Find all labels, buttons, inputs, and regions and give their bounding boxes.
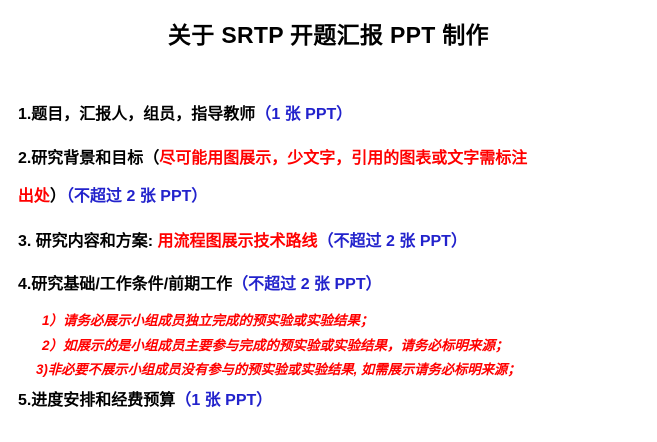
outline-item-4-heading: 4.研究基础/工作条件/前期工作 — [18, 276, 232, 293]
outline-item-2-heading: 2.研究背景和目标 — [18, 150, 143, 167]
outline-item-2-emphasis-cont: 出处 — [18, 188, 50, 205]
outline-item-1: 1.题目，汇报人，组员，指导教师（1 张 PPT） — [18, 106, 352, 124]
outline-item-4-subitem-2: 2）如展示的是小组成员主要参与完成的预实验或实验结果，请务必标明来源； — [42, 339, 509, 354]
outline-item-5-heading: 5.进度安排和经费预算 — [18, 392, 175, 409]
outline-item-2-note: （不超过 2 张 PPT） — [66, 188, 207, 205]
outline-item-5-note: （1 张 PPT） — [175, 392, 272, 409]
outline-item-4-subitem-3: 3)非必要不展示小组成员没有参与的预实验或实验结果, 如需展示请务必标明来源； — [36, 363, 521, 378]
outline-item-2-line-1: 2.研究背景和目标（尽可能用图展示，少文字，引用的图表或文字需标注 — [18, 150, 527, 168]
slide-title: 关于 SRTP 开题汇报 PPT 制作 — [0, 16, 657, 50]
outline-item-3: 3. 研究内容和方案: 用流程图展示技术路线（不超过 2 张 PPT） — [18, 233, 467, 251]
outline-item-4-note: （不超过 2 张 PPT） — [232, 276, 381, 293]
outline-item-5: 5.进度安排和经费预算（1 张 PPT） — [18, 392, 272, 410]
outline-item-1-note: （1 张 PPT） — [255, 106, 352, 123]
outline-item-4-subitem-1: 1）请务必展示小组成员独立完成的预实验或实验结果； — [42, 314, 374, 329]
outline-item-3-heading: 3. 研究内容和方案: — [18, 233, 158, 250]
outline-item-2-emphasis: 尽可能用图展示，少文字，引用的图表或文字需标注 — [159, 150, 527, 167]
outline-item-1-text: 1.题目，汇报人，组员，指导教师 — [18, 106, 255, 123]
outline-item-4: 4.研究基础/工作条件/前期工作（不超过 2 张 PPT） — [18, 276, 382, 294]
outline-item-2-close-paren: ） — [50, 188, 66, 205]
outline-item-2-line-2: 出处）（不超过 2 张 PPT） — [18, 188, 207, 206]
presentation-slide: 关于 SRTP 开题汇报 PPT 制作 1.题目，汇报人，组员，指导教师（1 张… — [0, 0, 657, 442]
outline-item-3-emphasis: 用流程图展示技术路线 — [158, 233, 318, 250]
outline-item-3-note: （不超过 2 张 PPT） — [318, 233, 467, 250]
outline-item-2-open-paren: （ — [143, 150, 159, 167]
